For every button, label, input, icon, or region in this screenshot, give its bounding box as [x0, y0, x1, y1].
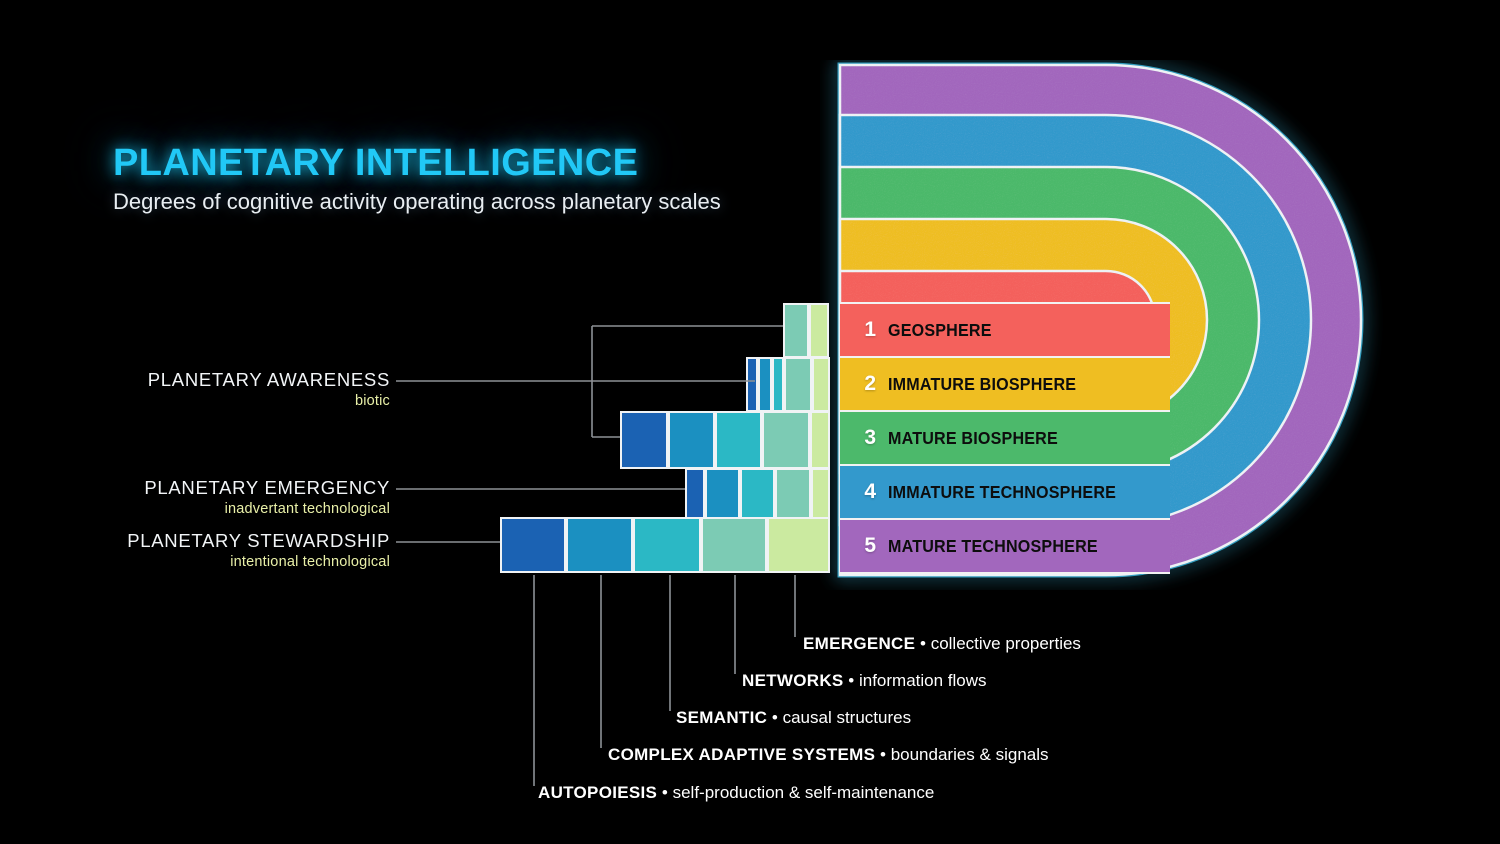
- bottom-label-term: COMPLEX ADAPTIVE SYSTEMS: [608, 745, 875, 764]
- bottom-label-term: EMERGENCE: [803, 634, 915, 653]
- left-label-subtitle: inadvertant technological: [60, 501, 390, 517]
- bottom-label-desc: information flows: [859, 671, 987, 690]
- bottom-label-semantic: SEMANTIC • causal structures: [676, 708, 911, 728]
- left-label-title: PLANETARY STEWARDSHIP: [60, 530, 390, 552]
- bottom-label-desc: collective properties: [931, 634, 1081, 653]
- bottom-label-term: SEMANTIC: [676, 708, 767, 727]
- left-label-subtitle: biotic: [60, 393, 390, 409]
- infographic-canvas: PLANETARY INTELLIGENCE Degrees of cognit…: [0, 0, 1500, 844]
- left-label-planetary-emergency: PLANETARY EMERGENCY inadvertant technolo…: [60, 477, 390, 517]
- bottom-label-desc: self-production & self-maintenance: [673, 783, 935, 802]
- bottom-label-complex-adaptive-systems: COMPLEX ADAPTIVE SYSTEMS • boundaries & …: [608, 745, 1049, 765]
- bottom-label-emergence: EMERGENCE • collective properties: [803, 634, 1081, 654]
- bottom-label-desc: causal structures: [783, 708, 912, 727]
- left-label-planetary-awareness: PLANETARY AWARENESS biotic: [60, 369, 390, 409]
- left-label-planetary-stewardship: PLANETARY STEWARDSHIP intentional techno…: [60, 530, 390, 570]
- left-label-title: PLANETARY AWARENESS: [60, 369, 390, 391]
- bottom-label-autopoiesis: AUTOPOIESIS • self-production & self-mai…: [538, 783, 934, 803]
- bottom-label-term: AUTOPOIESIS: [538, 783, 657, 802]
- bottom-label-term: NETWORKS: [742, 671, 844, 690]
- bottom-label-networks: NETWORKS • information flows: [742, 671, 987, 691]
- left-label-subtitle: intentional technological: [60, 554, 390, 570]
- bottom-label-desc: boundaries & signals: [891, 745, 1049, 764]
- left-label-title: PLANETARY EMERGENCY: [60, 477, 390, 499]
